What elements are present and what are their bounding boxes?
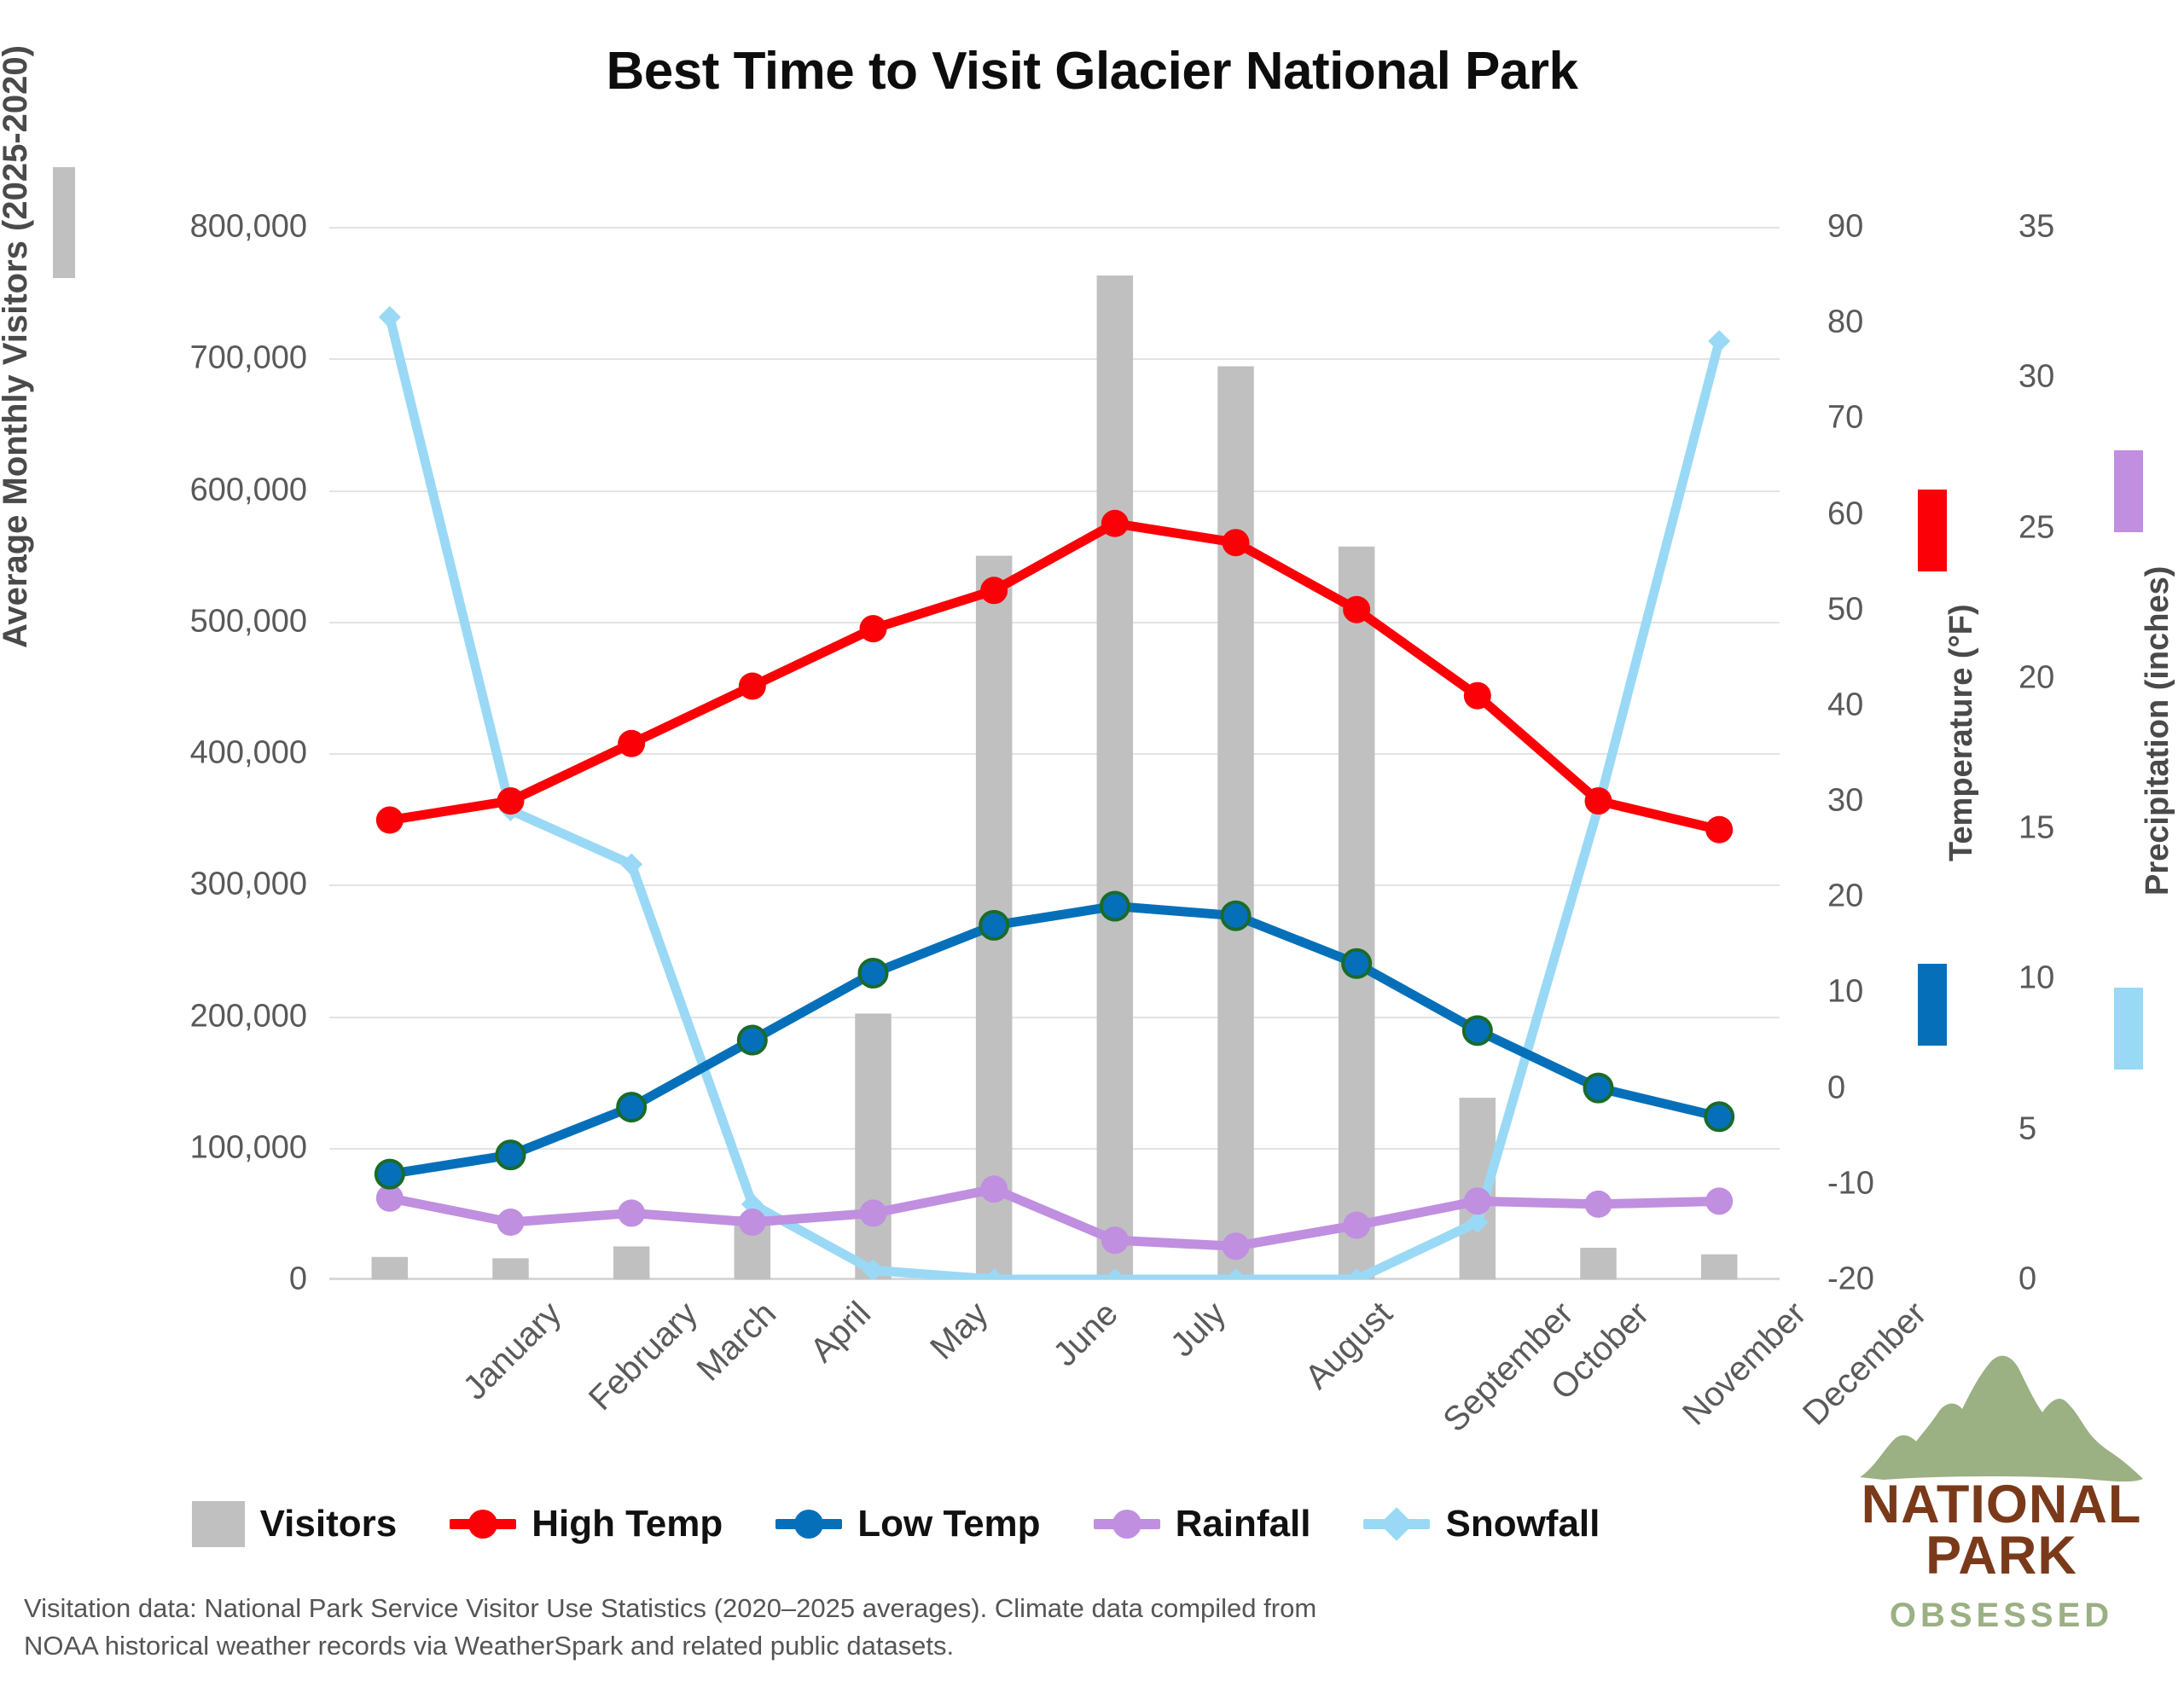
legend-dot-icon [794, 1510, 823, 1539]
logo-line-park: PARK [1926, 1526, 2077, 1586]
visitor-bar [492, 1258, 529, 1279]
visitor-bar [1097, 275, 1134, 1279]
temperature-axis-tick: 30 [1827, 783, 1930, 820]
rainfall-marker [980, 1175, 1008, 1203]
high-temp-marker [376, 807, 404, 834]
rainfall-marker [1343, 1212, 1370, 1239]
legend-label: Low Temp [857, 1503, 1040, 1545]
snowfall-marker [1708, 330, 1730, 352]
left-axis-tick: 300,000 [85, 867, 307, 903]
left-axis-tick: 400,000 [85, 735, 307, 772]
precipitation-rain-swatch [2114, 450, 2143, 532]
low-temp-marker [618, 1093, 645, 1121]
logo-subtitle: OBSESSED [1850, 1597, 2153, 1635]
low-temp-marker [739, 1027, 766, 1054]
precipitation-axis-label: Precipitation (inches) [2140, 566, 2176, 896]
high-temp-line [390, 524, 1719, 830]
temperature-high-swatch [1918, 490, 1947, 571]
high-temp-marker [1223, 529, 1250, 556]
x-axis-label: July [1164, 1295, 1234, 1365]
temperature-axis-tick: 40 [1827, 687, 1930, 723]
left-axis-tick: 200,000 [85, 998, 307, 1035]
legend-dot-icon [1112, 1510, 1141, 1539]
legend-item[interactable]: Visitors [192, 1501, 398, 1547]
low-temp-marker [1705, 1103, 1733, 1130]
rainfall-marker [618, 1199, 645, 1226]
left-axis-tick: 600,000 [85, 472, 307, 508]
chart-title: Best Time to Visit Glacier National Park [0, 41, 2184, 101]
high-temp-marker [1464, 682, 1491, 710]
x-axis-label: March [690, 1295, 784, 1388]
legend-dot-icon [468, 1510, 497, 1539]
temperature-axis-tick: -20 [1827, 1261, 1930, 1298]
rainfall-marker [860, 1199, 887, 1226]
legend-line-swatch [775, 1519, 842, 1529]
left-axis-tick: 800,000 [85, 209, 307, 246]
low-temp-marker [1585, 1075, 1612, 1102]
chart-legend: VisitorsHigh TempLow TempRainfallSnowfal… [0, 1501, 1792, 1547]
rainfall-marker [497, 1209, 525, 1236]
visitor-bar [1217, 367, 1254, 1279]
precipitation-axis-tick: 30 [2018, 359, 2121, 396]
x-axis-label: January [456, 1295, 569, 1407]
x-axis-label: February [581, 1295, 705, 1418]
temperature-axis-tick: 50 [1827, 591, 1930, 628]
legend-diamond-icon [1380, 1507, 1414, 1541]
legend-label: Visitors [260, 1503, 398, 1545]
rainfall-line [390, 1189, 1719, 1246]
legend-label: High Temp [531, 1503, 723, 1545]
plot-area [329, 227, 1780, 1279]
visitor-bar [1339, 547, 1375, 1279]
legend-label: Rainfall [1176, 1503, 1311, 1545]
low-temp-marker [1101, 892, 1129, 919]
mountain-icon [1850, 1351, 2153, 1487]
low-temp-marker [860, 959, 887, 987]
national-park-obsessed-logo: NATIONAL PARK OBSESSED [1850, 1351, 2153, 1632]
low-temp-line [390, 906, 1719, 1174]
x-axis-label: May [923, 1295, 996, 1367]
snowfall-marker [379, 306, 401, 328]
visitor-bar [613, 1246, 650, 1279]
x-axis-label: June [1047, 1295, 1126, 1374]
temperature-axis-tick: 70 [1827, 400, 1930, 437]
low-temp-marker [376, 1161, 404, 1188]
legend-item[interactable]: Low Temp [775, 1503, 1040, 1545]
visitor-bar [372, 1257, 408, 1279]
precipitation-axis-tick: 25 [2018, 509, 2121, 546]
temperature-axis-tick: 0 [1827, 1070, 1930, 1106]
x-axis-label: April [803, 1295, 878, 1370]
temperature-axis-tick: 80 [1827, 304, 1930, 341]
left-axis-label: Average Monthly Visitors (2025-2020) [0, 45, 35, 648]
legend-item[interactable]: Snowfall [1363, 1503, 1600, 1545]
snowfall-line [390, 317, 1719, 1279]
temperature-axis-label: Temperature (°F) [1943, 604, 1980, 861]
high-temp-marker [1705, 816, 1733, 843]
precipitation-axis-tick: 35 [2018, 209, 2121, 246]
precipitation-axis-tick: 20 [2018, 659, 2121, 696]
left-axis-tick: 700,000 [85, 340, 307, 377]
precipitation-axis-tick: 15 [2018, 810, 2121, 847]
temperature-low-swatch [1918, 964, 1947, 1046]
visitors-axis-swatch [53, 167, 75, 278]
precipitation-snow-swatch [2114, 988, 2143, 1070]
low-temp-marker [497, 1141, 525, 1168]
left-axis-tick: 100,000 [85, 1129, 307, 1166]
rainfall-marker [1705, 1187, 1733, 1215]
rainfall-marker [1585, 1191, 1612, 1218]
temperature-axis-tick: 10 [1827, 974, 1930, 1011]
legend-item[interactable]: High Temp [450, 1503, 723, 1545]
low-temp-marker [1464, 1017, 1491, 1044]
low-temp-marker [1223, 902, 1250, 930]
temperature-axis-tick: 20 [1827, 878, 1930, 915]
temperature-axis-tick: 60 [1827, 496, 1930, 532]
visitor-bar [1580, 1248, 1617, 1279]
high-temp-marker [1343, 596, 1370, 623]
legend-line-swatch [1094, 1519, 1160, 1529]
legend-label: Snowfall [1445, 1503, 1600, 1545]
rainfall-marker [1464, 1187, 1491, 1215]
rainfall-marker [739, 1209, 766, 1236]
high-temp-marker [1101, 510, 1129, 537]
legend-line-swatch [450, 1519, 516, 1529]
high-temp-marker [618, 730, 645, 757]
left-axis-tick: 500,000 [85, 603, 307, 640]
temperature-axis-tick: 90 [1827, 209, 1930, 246]
low-temp-marker [1343, 950, 1370, 977]
logo-title: NATIONAL PARK [1850, 1479, 2153, 1582]
legend-line-swatch [1363, 1519, 1430, 1529]
rainfall-marker [1223, 1232, 1250, 1260]
rainfall-marker [1101, 1226, 1129, 1254]
x-axis-label: August [1298, 1295, 1400, 1397]
high-temp-marker [739, 672, 766, 699]
chart-figure: Best Time to Visit Glacier National Park… [0, 0, 2184, 1687]
temperature-axis-tick: -10 [1827, 1165, 1930, 1202]
precipitation-axis-tick: 5 [2018, 1110, 2121, 1147]
legend-item[interactable]: Rainfall [1094, 1503, 1311, 1545]
high-temp-marker [860, 615, 887, 642]
high-temp-marker [1585, 787, 1612, 815]
source-footnote: Visitation data: National Park Service V… [24, 1590, 1389, 1665]
x-axis-label: November [1676, 1295, 1814, 1433]
visitor-bar [855, 1013, 892, 1279]
precipitation-axis-tick: 0 [2018, 1261, 2121, 1298]
precipitation-axis-tick: 10 [2018, 960, 2121, 997]
legend-bar-swatch [192, 1501, 245, 1547]
left-axis-tick: 0 [85, 1261, 307, 1298]
low-temp-marker [980, 912, 1008, 939]
visitor-bar [1701, 1255, 1738, 1279]
high-temp-marker [980, 577, 1008, 604]
high-temp-marker [497, 787, 525, 815]
